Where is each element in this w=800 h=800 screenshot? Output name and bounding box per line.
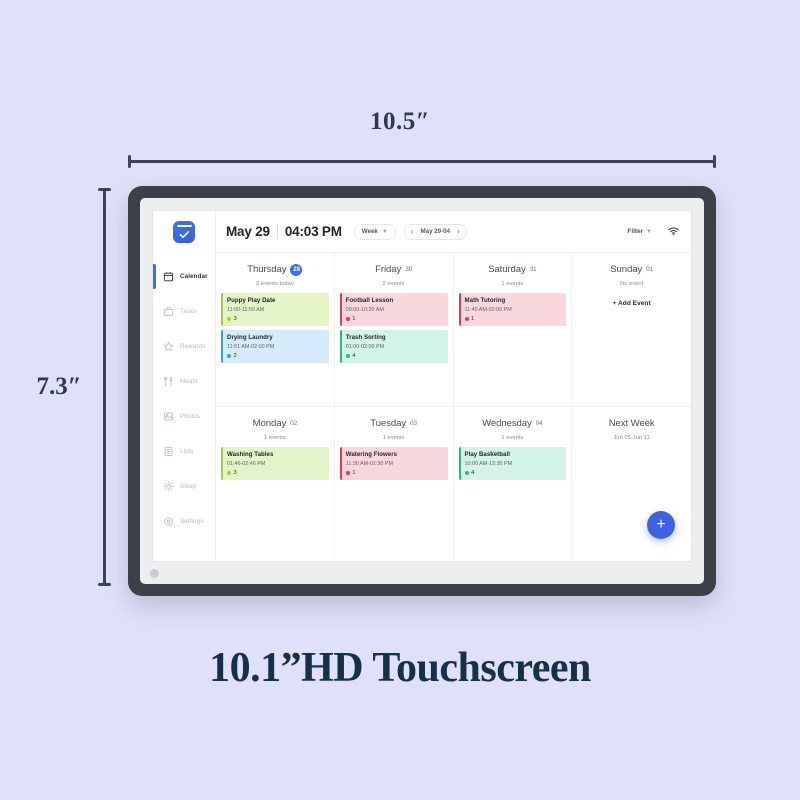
app-logo xyxy=(153,211,215,253)
day-name-text: Next Week xyxy=(609,418,655,429)
day-name-text: Monday xyxy=(253,418,287,429)
event-time: 01:46-02:46 PM xyxy=(227,461,324,467)
sidebar-item-label: Rewards xyxy=(180,343,205,350)
width-dimension-label: 10.5″ xyxy=(0,108,800,136)
event-card[interactable]: Watering Flowers 11:30 AM-01:30 PM 1 xyxy=(340,447,448,480)
event-count: 4 xyxy=(465,470,562,476)
event-count-value: 1 xyxy=(352,470,355,476)
event-card[interactable]: Math Tutoring 11:40 AM-02:00 PM 1 xyxy=(459,293,567,326)
status-dot-icon xyxy=(465,471,469,475)
next-week-range: Jun 05-Jun 11 xyxy=(577,435,686,441)
photos-icon xyxy=(162,410,175,423)
sidebar-item-settings[interactable]: Settings xyxy=(153,504,215,539)
event-time: 11:40 AM-02:00 PM xyxy=(465,307,562,313)
day-header: Tuesday 03 xyxy=(340,413,448,431)
day-cell[interactable]: Tuesday 03 1 events Watering Flowers 11:… xyxy=(335,407,454,561)
day-cell[interactable]: Sunday 01 No event + Add Event xyxy=(572,253,691,407)
day-number: 30 xyxy=(405,266,412,273)
event-count: 3 xyxy=(227,316,324,322)
sleep-icon xyxy=(162,480,175,493)
dimension-bar xyxy=(128,160,716,163)
status-dot-icon xyxy=(346,317,350,321)
wifi-icon xyxy=(668,227,679,236)
sidebar-item-label: Settings xyxy=(180,518,204,525)
dimension-cap-bottom xyxy=(98,583,111,586)
day-event-count: 1 events xyxy=(340,435,448,441)
sidebar-item-tasks[interactable]: Tasks xyxy=(153,294,215,329)
day-header: Wednesday 04 xyxy=(459,413,567,431)
day-cell[interactable]: Wednesday 04 1 events Play Basketball 10… xyxy=(454,407,573,561)
day-event-count: 1 events xyxy=(221,435,329,441)
week-grid: Thursday 29 2 events today Puppy Play Da… xyxy=(216,253,691,561)
event-count-value: 3 xyxy=(234,470,237,476)
day-number: 04 xyxy=(536,420,543,427)
day-name-text: Thursday xyxy=(247,264,286,275)
event-title: Math Tutoring xyxy=(465,297,562,304)
sidebar-item-label: Tasks xyxy=(180,308,197,315)
tablet-bezel: Calendar Tasks xyxy=(140,198,704,584)
tablet-device: Calendar Tasks xyxy=(128,186,716,596)
dimension-cap-right xyxy=(713,155,716,168)
event-title: Play Basketball xyxy=(465,451,562,458)
event-count: 1 xyxy=(346,470,443,476)
event-time: 11:30 AM-01:30 PM xyxy=(346,461,443,467)
day-header: Sunday 01 xyxy=(577,259,686,277)
sidebar-item-label: Lists xyxy=(180,448,193,455)
add-event-fab[interactable]: + xyxy=(647,511,675,539)
day-event-count: 1 events xyxy=(459,281,567,287)
event-title: Football Lesson xyxy=(346,297,443,304)
meals-cutlery-icon xyxy=(162,375,175,388)
dimension-cap-top xyxy=(98,188,111,191)
day-header: Monday 02 xyxy=(221,413,329,431)
event-count-value: 1 xyxy=(471,316,474,322)
event-title: Drying Laundry xyxy=(227,334,324,341)
day-number: 01 xyxy=(646,266,653,273)
status-dot-icon xyxy=(227,354,231,358)
sidebar-item-lists[interactable]: Lists xyxy=(153,434,215,469)
event-card[interactable]: Drying Laundry 11:51 AM-02:00 PM 2 xyxy=(221,330,329,363)
event-count: 1 xyxy=(346,316,443,322)
toolbar: May 29 04:03 PM Week ▼ ‹ May 29-04 › xyxy=(216,211,691,253)
height-dimension-line xyxy=(98,188,111,586)
event-time: 10:00 AM-12:30 PM xyxy=(465,461,562,467)
day-event-count: 1 events xyxy=(459,435,567,441)
date-range-nav[interactable]: ‹ May 29-04 › xyxy=(404,224,467,240)
day-name: Wednesday 04 xyxy=(482,418,543,429)
date-range-label: May 29-04 xyxy=(420,228,450,235)
chevron-down-icon: ▼ xyxy=(646,229,652,235)
event-title: Trash Sorting xyxy=(346,334,443,341)
event-time: 01:00-02:00 PM xyxy=(346,344,443,350)
event-count-value: 3 xyxy=(234,316,237,322)
dimension-bar xyxy=(103,188,106,586)
calendar-check-icon xyxy=(173,221,195,243)
next-week-cell[interactable]: Next Week Jun 05-Jun 11 xyxy=(572,407,691,561)
divider xyxy=(277,224,278,239)
day-cell[interactable]: Saturday 31 1 events Math Tutoring 11:40… xyxy=(454,253,573,407)
event-time: 09:00-10:30 AM xyxy=(346,307,443,313)
event-card[interactable]: Football Lesson 09:00-10:30 AM 1 xyxy=(340,293,448,326)
day-name: Friday 30 xyxy=(375,264,412,275)
day-name: Sunday 01 xyxy=(610,264,653,275)
sidebar-item-sleep[interactable]: Sleep xyxy=(153,469,215,504)
day-header: Friday 30 xyxy=(340,259,448,277)
event-count: 3 xyxy=(227,470,324,476)
sidebar-item-rewards[interactable]: Rewards xyxy=(153,329,215,364)
day-number-badge: 29 xyxy=(290,264,302,276)
current-time: 04:03 PM xyxy=(285,224,342,239)
day-name-text: Sunday xyxy=(610,264,642,275)
chevron-left-icon[interactable]: ‹ xyxy=(411,228,414,236)
current-date: May 29 xyxy=(226,224,270,239)
day-name: Next Week xyxy=(609,418,655,429)
day-name-text: Saturday xyxy=(488,264,526,275)
day-name: Monday 02 xyxy=(253,418,297,429)
day-cell[interactable]: Thursday 29 2 events today Puppy Play Da… xyxy=(216,253,335,407)
status-dot-icon xyxy=(227,317,231,321)
event-count-value: 1 xyxy=(352,316,355,322)
sidebar-item-label: Calendar xyxy=(180,273,208,280)
event-card[interactable]: Puppy Play Date 11:00-11:50 AM 3 xyxy=(221,293,329,326)
day-name: Tuesday 03 xyxy=(370,418,417,429)
event-count-value: 4 xyxy=(471,470,474,476)
camera-dot-icon xyxy=(150,569,159,578)
sidebar-item-meals[interactable]: Meals xyxy=(153,364,215,399)
event-title: Puppy Play Date xyxy=(227,297,324,304)
status-dot-icon xyxy=(465,317,469,321)
event-time: 11:51 AM-02:00 PM xyxy=(227,344,324,350)
day-number: 03 xyxy=(410,420,417,427)
day-name: Thursday 29 xyxy=(247,264,302,276)
sidebar-item-label: Meals xyxy=(180,378,197,385)
product-diagram: 10.5″ 7.3″ xyxy=(0,0,800,800)
day-header: Saturday 31 xyxy=(459,259,567,277)
calendar-icon xyxy=(162,270,175,283)
day-header: Next Week xyxy=(577,413,686,431)
event-count: 1 xyxy=(465,316,562,322)
status-dot-icon xyxy=(227,471,231,475)
sidebar-item-label: Sleep xyxy=(180,483,197,490)
width-dimension-line xyxy=(128,155,716,167)
sidebar-item-photos[interactable]: Photos xyxy=(153,399,215,434)
main-panel: May 29 04:03 PM Week ▼ ‹ May 29-04 › xyxy=(216,211,691,561)
sidebar-item-calendar[interactable]: Calendar xyxy=(153,259,215,294)
sidebar-item-label: Photos xyxy=(180,413,200,420)
dimension-cap-left xyxy=(128,155,131,168)
day-cell[interactable]: Monday 02 1 events Washing Tables 01:46-… xyxy=(216,407,335,561)
status-dot-icon xyxy=(346,354,350,358)
calendar-app-screen: Calendar Tasks xyxy=(152,210,692,562)
event-card[interactable]: Trash Sorting 01:00-02:00 PM 4 xyxy=(340,330,448,363)
event-count: 4 xyxy=(346,353,443,359)
view-select[interactable]: Week ▼ xyxy=(354,224,396,240)
day-name: Saturday 31 xyxy=(488,264,537,275)
day-header: Thursday 29 xyxy=(221,259,329,277)
add-event-button[interactable]: + Add Event xyxy=(577,300,686,307)
event-count: 2 xyxy=(227,353,324,359)
day-name-text: Wednesday xyxy=(482,418,532,429)
day-name-text: Tuesday xyxy=(370,418,406,429)
day-event-count: No event xyxy=(577,281,686,287)
sidebar: Calendar Tasks xyxy=(153,211,216,561)
event-count-value: 2 xyxy=(234,353,237,359)
event-card[interactable]: Play Basketball 10:00 AM-12:30 PM 4 xyxy=(459,447,567,480)
sidebar-nav: Calendar Tasks xyxy=(153,253,215,561)
filter-button[interactable]: Filter ▼ xyxy=(627,228,652,235)
event-time: 11:00-11:50 AM xyxy=(227,307,324,313)
day-cell[interactable]: Friday 30 2 events Football Lesson 09:00… xyxy=(335,253,454,407)
event-count-value: 4 xyxy=(352,353,355,359)
status-dot-icon xyxy=(346,471,350,475)
tasks-icon xyxy=(162,305,175,318)
rewards-star-icon xyxy=(162,340,175,353)
day-number: 02 xyxy=(290,420,297,427)
plus-icon: + xyxy=(656,517,665,533)
event-title: Watering Flowers xyxy=(346,451,443,458)
day-event-count: 2 events xyxy=(340,281,448,287)
chevron-down-icon: ▼ xyxy=(382,229,388,235)
day-number: 31 xyxy=(530,266,537,273)
day-event-count: 2 events today xyxy=(221,281,329,287)
lists-icon xyxy=(162,445,175,458)
view-select-label: Week xyxy=(362,228,378,235)
height-dimension-label: 7.3″ xyxy=(16,373,102,401)
day-name-text: Friday xyxy=(375,264,401,275)
chevron-right-icon[interactable]: › xyxy=(457,228,460,236)
settings-gear-icon xyxy=(162,515,175,528)
filter-label: Filter xyxy=(627,228,643,235)
event-card[interactable]: Washing Tables 01:46-02:46 PM 3 xyxy=(221,447,329,480)
product-caption: 10.1”HD Touchscreen xyxy=(0,644,800,692)
event-title: Washing Tables xyxy=(227,451,324,458)
